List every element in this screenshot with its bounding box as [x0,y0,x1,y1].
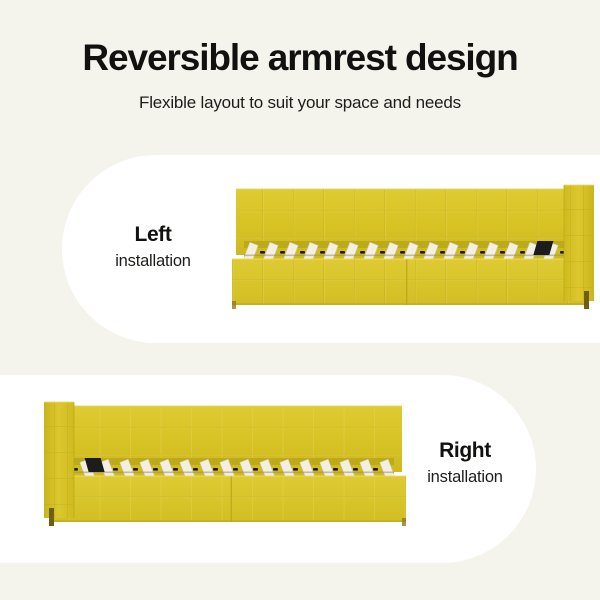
label-right-installation-title: Right [390,438,540,464]
foot-right-mirrored [49,508,54,526]
label-left-installation-subtitle: installation [78,251,228,272]
daybed-illustration-right-installation [38,400,406,528]
daybed-base-mirrored [54,476,406,522]
daybed-base [232,259,584,305]
foot-left [232,301,236,309]
daybed-armrest [564,185,594,301]
header: Reversible armrest design Flexible layou… [0,0,600,113]
foot-left-mirrored [402,518,406,526]
foot-right [584,291,589,309]
label-left-installation-title: Left [78,222,228,248]
label-left-installation: Left installation [78,222,228,272]
label-right-installation: Right installation [390,438,540,488]
page-subtitle: Flexible layout to suit your space and n… [0,93,600,113]
daybed-armrest-mirrored [44,402,74,518]
page-title: Reversible armrest design [0,38,600,79]
label-right-installation-subtitle: installation [390,467,540,488]
daybed-svg-mirrored [38,400,406,528]
daybed-svg [232,183,600,311]
daybed-illustration-left-installation [232,183,600,311]
